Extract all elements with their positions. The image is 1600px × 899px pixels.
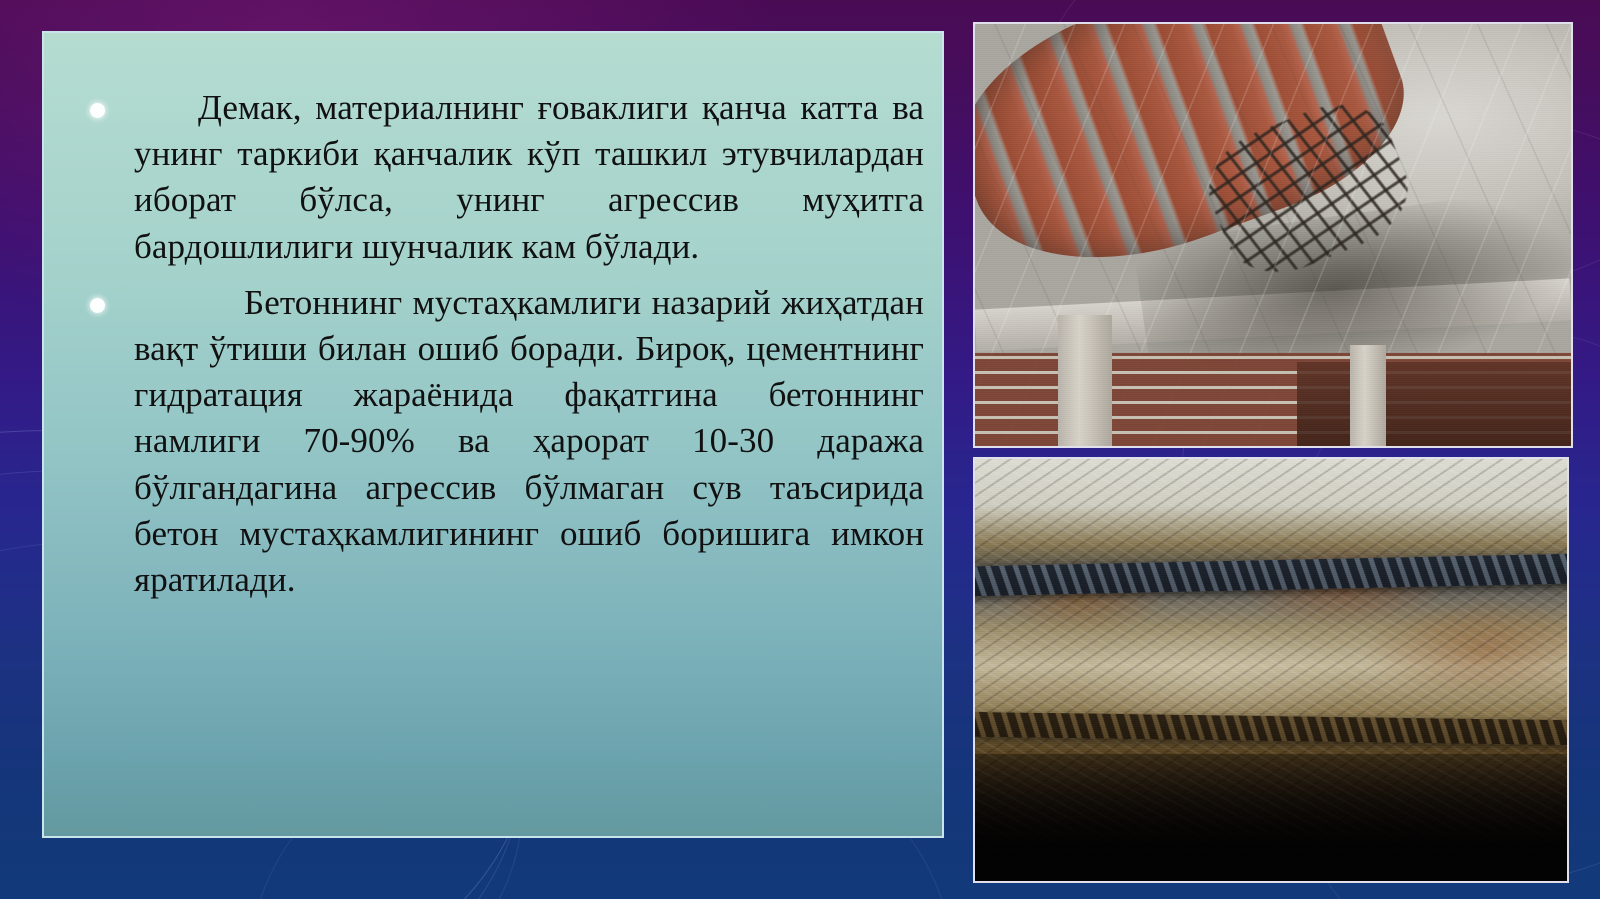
bullet-item-text: Бетоннинг мустаҳкамлиги назарий жиҳатдан…	[134, 280, 924, 603]
bullet-item-text: Демак, материалнинг ғоваклиги қанча катт…	[134, 85, 924, 270]
bullet-list-item: Демак, материалнинг ғоваклиги қанча катт…	[86, 85, 924, 270]
photo-layer-concrete-column	[1058, 315, 1112, 446]
bullet-list-item: Бетоннинг мустаҳкамлиги назарий жиҳатдан…	[86, 280, 924, 603]
damaged-concrete-ceiling-photo	[973, 22, 1573, 448]
photo-layer-brick-wall-shadow	[1297, 362, 1571, 446]
presentation-slide: Демак, материалнинг ғоваклиги қанча катт…	[0, 0, 1600, 899]
photo-layer-shadow	[975, 754, 1567, 881]
bullet-dot-icon	[90, 103, 105, 118]
content-text-panel: Демак, материалнинг ғоваклиги қанча катт…	[42, 31, 944, 838]
corroded-rebar-concrete-section-photo	[973, 457, 1569, 883]
photo-layer-concrete-column	[1350, 345, 1386, 446]
bullet-dot-icon	[90, 298, 105, 313]
